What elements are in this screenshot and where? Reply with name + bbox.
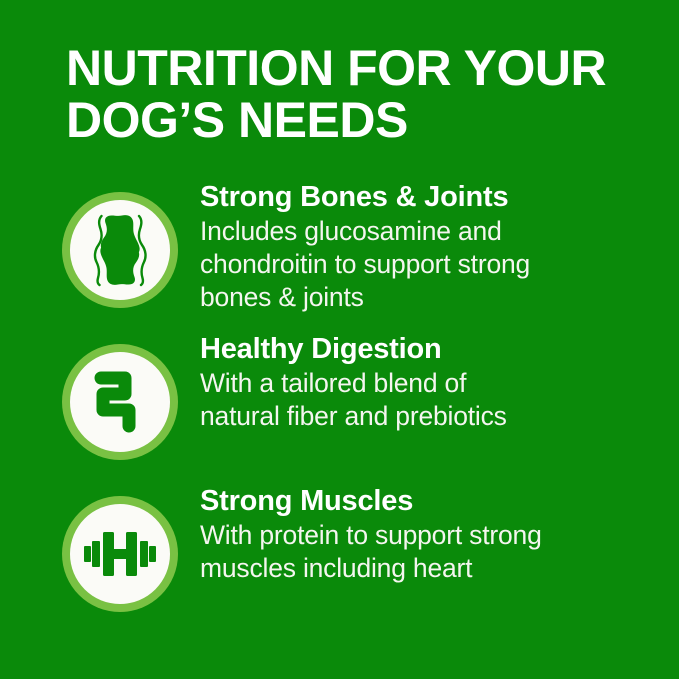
feature-description-line: Includes glucosamine and [200, 215, 620, 248]
bone-joint-icon [88, 213, 152, 287]
feature-text-block: Strong Bones & Joints Includes glucosami… [200, 176, 620, 314]
icon-ring [62, 192, 178, 308]
feature-description-line: With protein to support strong [200, 519, 620, 552]
feature-description-line: With a tailored blend of [200, 367, 620, 400]
feature-item-strong-muscles: Strong Muscles With protein to support s… [0, 480, 679, 632]
feature-icon-wrapper [60, 342, 184, 466]
nutrition-info-panel: NUTRITION FOR YOUR DOG’S NEEDS [0, 0, 679, 679]
feature-title: Strong Muscles [200, 484, 620, 518]
feature-description: With a tailored blend of natural fiber a… [200, 367, 620, 433]
intestine-icon [89, 368, 151, 436]
feature-item-healthy-digestion: Healthy Digestion With a tailored blend … [0, 328, 679, 480]
feature-item-bones-joints: Strong Bones & Joints Includes glucosami… [0, 176, 679, 328]
feature-text-block: Healthy Digestion With a tailored blend … [200, 328, 620, 433]
page-title-line-2: DOG’S NEEDS [66, 94, 636, 146]
feature-title: Healthy Digestion [200, 332, 620, 366]
feature-text-block: Strong Muscles With protein to support s… [200, 480, 620, 585]
feature-description-line: muscles including heart [200, 552, 620, 585]
feature-description: With protein to support strong muscles i… [200, 519, 620, 585]
icon-disc [70, 352, 170, 452]
icon-ring [62, 496, 178, 612]
feature-list: Strong Bones & Joints Includes glucosami… [0, 176, 679, 632]
feature-icon-wrapper [60, 494, 184, 618]
icon-ring [62, 344, 178, 460]
icon-disc [70, 200, 170, 300]
page-title: NUTRITION FOR YOUR DOG’S NEEDS [66, 42, 636, 146]
page-title-line-1: NUTRITION FOR YOUR [66, 42, 636, 94]
feature-icon-wrapper [60, 190, 184, 314]
feature-description-line: chondroitin to support strong [200, 248, 620, 281]
feature-title: Strong Bones & Joints [200, 180, 620, 214]
feature-description-line: bones & joints [200, 281, 620, 314]
feature-description: Includes glucosamine and chondroitin to … [200, 215, 620, 314]
icon-disc [70, 504, 170, 604]
feature-description-line: natural fiber and prebiotics [200, 400, 620, 433]
dumbbell-icon [84, 530, 156, 578]
